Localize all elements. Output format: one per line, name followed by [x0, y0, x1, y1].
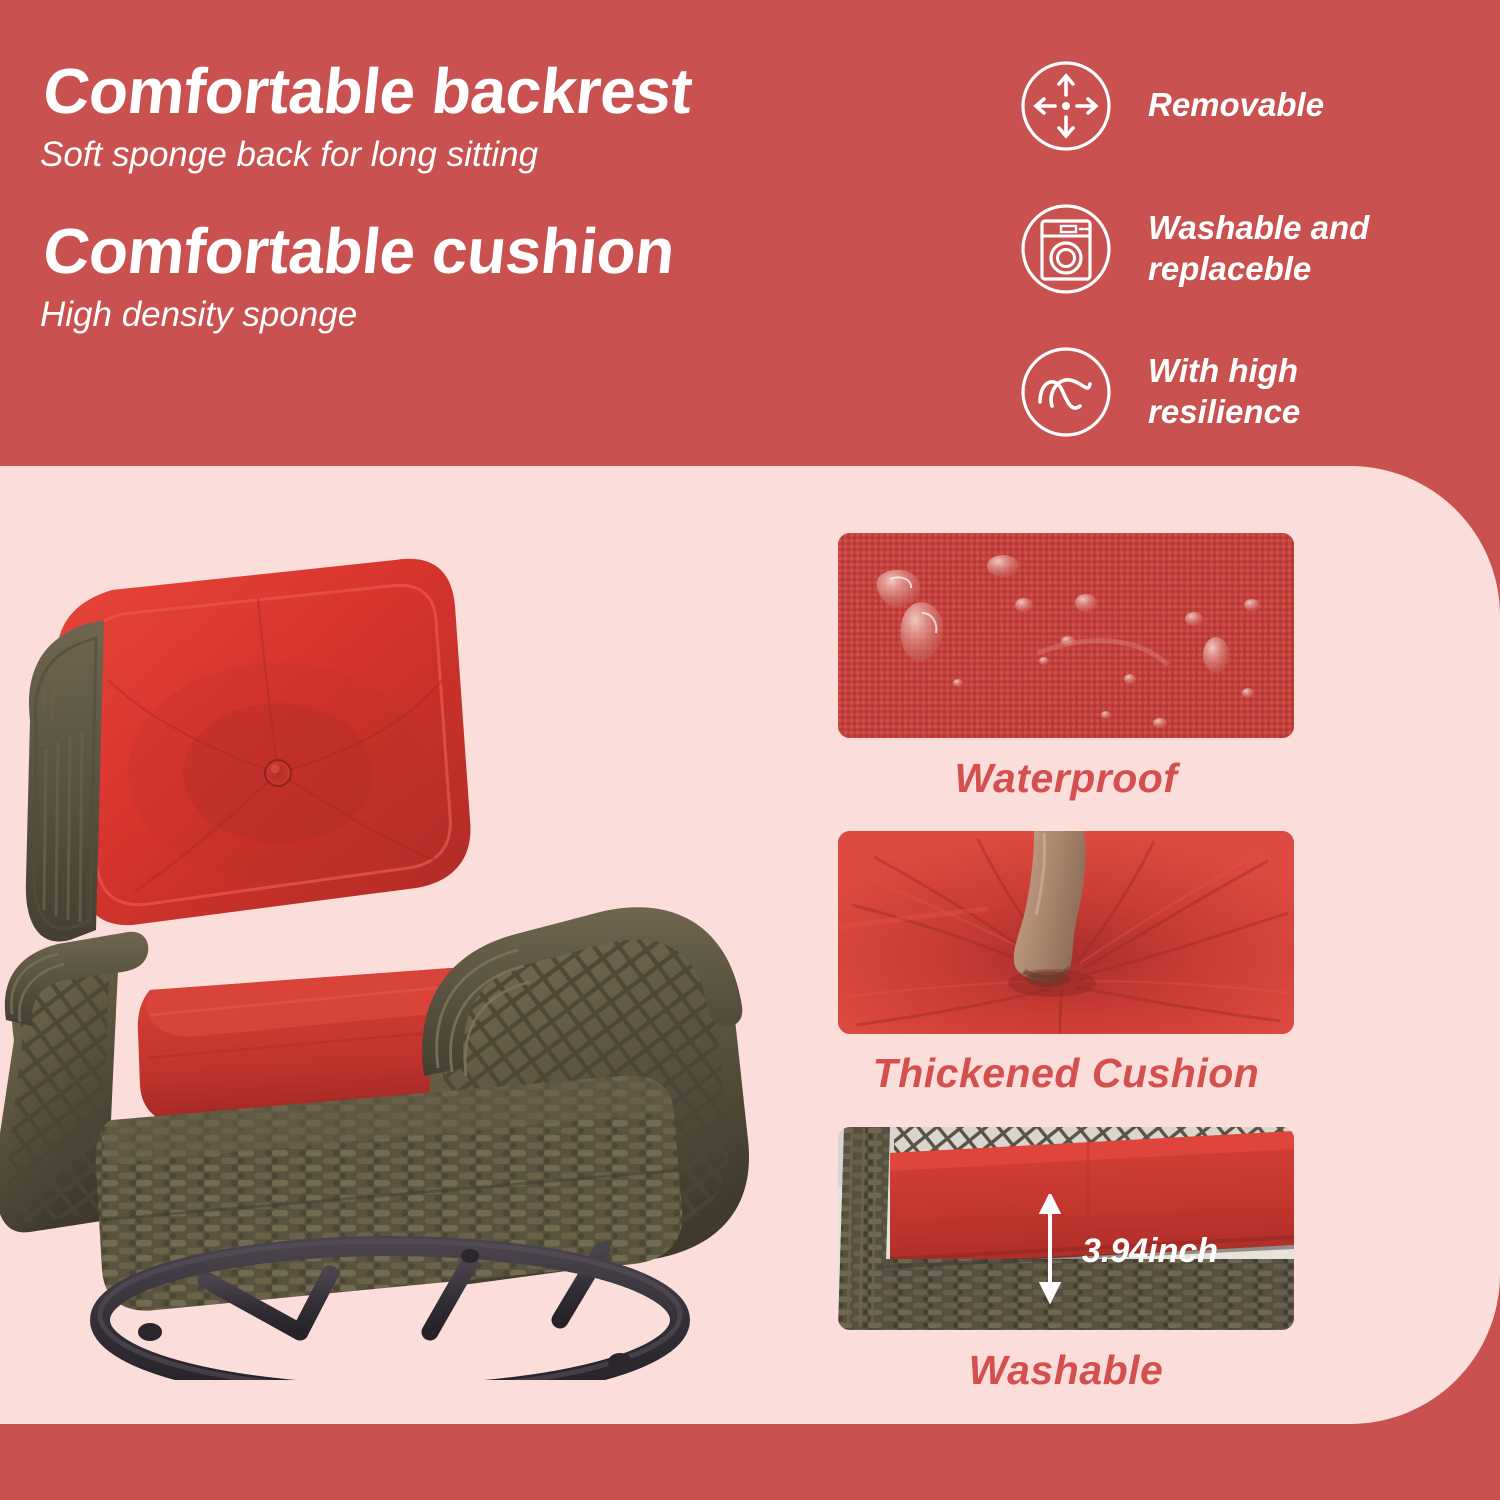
- headline-block-cushion: Comfortable cushion High density sponge: [40, 218, 960, 336]
- wicker-swivel-chair-photo: [0, 520, 800, 1380]
- backrest-cushion: [57, 559, 471, 925]
- feature-label-removable: Removable: [1148, 85, 1324, 125]
- feature-list: Removable Washable and replaceble: [1018, 48, 1468, 477]
- caption-thickened-cushion: Thickened Cushion: [838, 1050, 1294, 1097]
- feature-label-resilience: With high resilience: [1148, 351, 1428, 432]
- photo-card-thickened-cushion: [838, 831, 1294, 1034]
- photo-card-washable: [838, 1127, 1294, 1330]
- headline-cushion: Comfortable cushion: [40, 218, 967, 286]
- feature-label-washable: Washable and replaceble: [1148, 208, 1428, 289]
- feature-row-washable: Washable and replaceble: [1018, 191, 1468, 306]
- headline-backrest: Comfortable backrest: [40, 58, 967, 126]
- washing-machine-icon: [1018, 201, 1114, 297]
- subline-cushion: High density sponge: [40, 294, 960, 336]
- feature-row-removable: Removable: [1018, 48, 1468, 163]
- caption-washable: Washable: [838, 1347, 1294, 1394]
- spring-wave-icon: [1018, 344, 1114, 440]
- feature-row-resilience: With high resilience: [1018, 334, 1468, 449]
- photo-card-waterproof: [838, 533, 1294, 738]
- subline-backrest: Soft sponge back for long sitting: [40, 134, 960, 176]
- caption-waterproof: Waterproof: [838, 755, 1294, 802]
- chair-back-frame: [26, 620, 104, 942]
- header-band: Comfortable backrest Soft sponge back fo…: [0, 0, 1500, 466]
- footer-band: [0, 1424, 1500, 1500]
- headline-block-backrest: Comfortable backrest Soft sponge back fo…: [40, 58, 960, 176]
- move-arrows-icon: [1018, 58, 1114, 154]
- headline-group: Comfortable backrest Soft sponge back fo…: [40, 58, 960, 336]
